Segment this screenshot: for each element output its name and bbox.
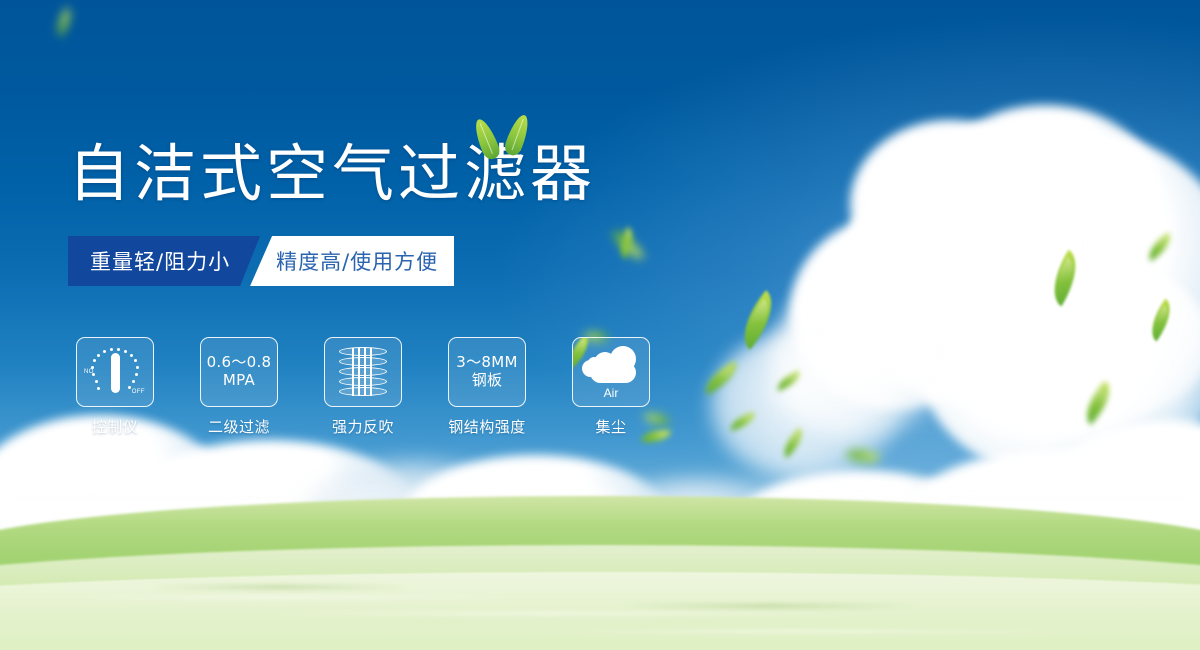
feature-icon-box xyxy=(324,337,402,407)
leaf-vein xyxy=(512,119,524,150)
banner-content: 自洁式空气过滤器 重量轻/阻力小 精度高/使用方便 xyxy=(0,0,1200,650)
sprout-leaves-icon xyxy=(472,112,542,168)
air-cloud-icon xyxy=(580,345,642,385)
pressure-text-icon: 0.6～0.8 MPA xyxy=(207,354,272,389)
pressure-line-1: 0.6～0.8 xyxy=(207,354,272,372)
feature-list: NO OFF 控制仪 0.6～0.8 MPA 二级过滤 xyxy=(76,337,650,437)
product-banner: 自洁式空气过滤器 重量轻/阻力小 精度高/使用方便 xyxy=(0,0,1200,650)
feature-label: 二级过滤 xyxy=(208,416,270,437)
pressure-line-2: MPA xyxy=(207,372,272,390)
feature-label: 钢结构强度 xyxy=(448,416,526,437)
air-label: Air xyxy=(604,386,619,400)
cloud-body xyxy=(590,362,636,383)
feature-icon-box: 0.6～0.8 MPA xyxy=(200,337,278,407)
feature-item-control[interactable]: NO OFF 控制仪 xyxy=(76,337,154,437)
feature-label: 控制仪 xyxy=(92,416,139,437)
leaf-vein xyxy=(480,123,493,154)
filter-stack-icon xyxy=(335,344,391,400)
dial-label-off: OFF xyxy=(132,389,145,395)
dial-label-no: NO xyxy=(84,369,94,375)
feature-item-dust[interactable]: Air 集尘 xyxy=(572,337,650,437)
steel-line-2: 钢板 xyxy=(456,372,517,390)
feature-icon-box: 3～8MM 钢板 xyxy=(448,337,526,407)
feature-item-blowback[interactable]: 强力反吹 xyxy=(324,337,402,437)
control-dial-icon: NO OFF xyxy=(84,344,146,400)
feature-icon-box: Air xyxy=(572,337,650,407)
feature-item-steel[interactable]: 3～8MM 钢板 钢结构强度 xyxy=(448,337,526,437)
subtitle-right-block: 精度高/使用方便 xyxy=(250,236,454,286)
steel-plate-text-icon: 3～8MM 钢板 xyxy=(456,354,517,389)
sprout-leaf-left xyxy=(471,116,502,161)
sprout-leaf-right xyxy=(502,112,532,157)
feature-item-pressure[interactable]: 0.6～0.8 MPA 二级过滤 xyxy=(200,337,278,437)
dial-needle xyxy=(111,353,120,393)
subtitle-left-block: 重量轻/阻力小 xyxy=(68,236,260,286)
feature-label: 集尘 xyxy=(595,416,626,437)
feature-icon-box: NO OFF xyxy=(76,337,154,407)
feature-label: 强力反吹 xyxy=(332,416,394,437)
subtitle-left-text: 重量轻/阻力小 xyxy=(90,246,230,276)
subtitle-right-text: 精度高/使用方便 xyxy=(276,246,438,276)
steel-line-1: 3～8MM xyxy=(456,354,517,372)
subtitle-bar: 重量轻/阻力小 精度高/使用方便 xyxy=(68,236,462,286)
